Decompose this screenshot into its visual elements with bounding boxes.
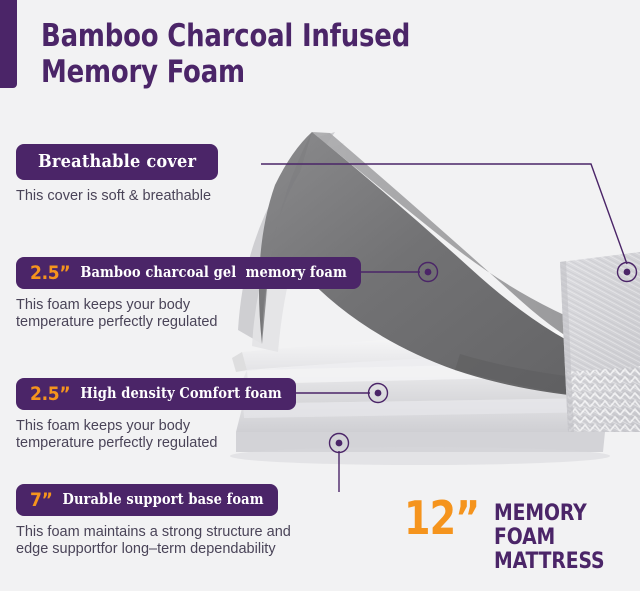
callout-bamboo-gel-foam: 2.5” Bamboo charcoal gel memory foam Thi… (16, 257, 361, 332)
badge-label: Durable support base foam (63, 493, 264, 508)
badge-base-foam[interactable]: 7” Durable support base foam (16, 484, 278, 516)
tagline-thickness: 12” (404, 498, 479, 539)
callout-comfort-foam: 2.5” High density Comfort foam This foam… (16, 378, 296, 453)
callout-breathable-cover: Breathable cover This cover is soft & br… (16, 144, 218, 205)
badge-measure: 7” (30, 491, 53, 510)
product-tagline: 12” MEMORY FOAM MATTRESS (404, 498, 640, 573)
badge-label: Bamboo charcoal gel memory foam (80, 266, 347, 281)
badge-measure: 2.5” (30, 385, 70, 404)
badge-bamboo-gel-foam[interactable]: 2.5” Bamboo charcoal gel memory foam (16, 257, 361, 289)
badge-breathable-cover[interactable]: Breathable cover (16, 144, 218, 180)
page-title-line-1: Bamboo Charcoal Infused (41, 18, 410, 54)
tagline-line-1: MEMORY FOAM (494, 502, 633, 550)
callout-description-breathable-cover: This cover is soft & breathable (16, 188, 218, 205)
callout-description-base-foam: This foam maintains a strong structure a… (16, 524, 291, 559)
tagline-line-2: MATTRESS (494, 550, 633, 574)
callout-description-bamboo-gel-foam: This foam keeps your body temperature pe… (16, 297, 361, 332)
page-title-line-2: Memory Foam (41, 55, 478, 91)
tagline-words: MEMORY FOAM MATTRESS (494, 498, 633, 573)
badge-comfort-foam[interactable]: 2.5” High density Comfort foam (16, 378, 296, 410)
badge-label: High density Comfort foam (80, 387, 282, 402)
callout-description-comfort-foam: This foam keeps your body temperature pe… (16, 418, 296, 453)
badge-measure: 2.5” (30, 264, 70, 283)
infographic-canvas: Bamboo Charcoal Infused Memory Foam Brea… (0, 0, 640, 591)
callout-base-foam: 7” Durable support base foam This foam m… (16, 484, 291, 559)
content-layer: Bamboo Charcoal Infused Memory Foam Brea… (0, 0, 640, 591)
header-accent-bar (0, 0, 17, 88)
page-title: Bamboo Charcoal Infused Memory Foam (41, 19, 478, 91)
badge-label: Breathable cover (38, 153, 196, 171)
